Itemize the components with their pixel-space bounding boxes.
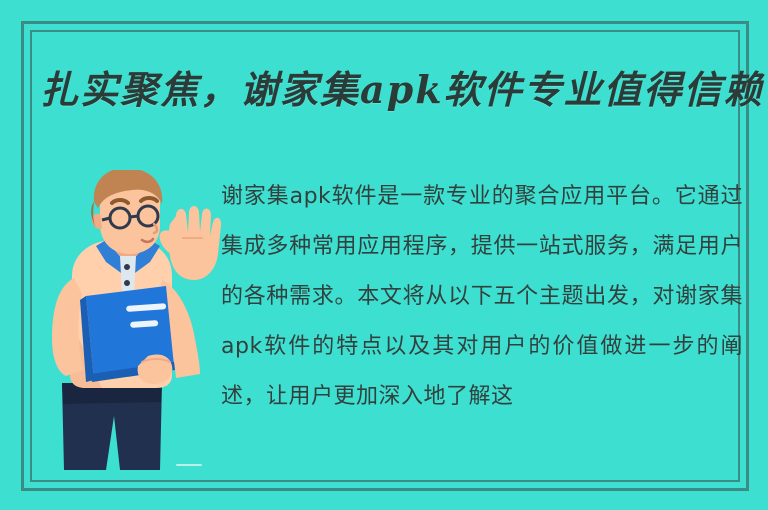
- shirt-button-top: [124, 264, 130, 270]
- body-paragraph: 谢家集apk软件是一款专业的聚合应用平台。它通过集成多种常用应用程序，提供一站式…: [221, 172, 743, 422]
- page-title: 扎实聚焦，谢家集apk软件专业值得信赖: [40, 58, 768, 122]
- ground-line: [176, 464, 202, 466]
- shirt-placket: [120, 256, 136, 294]
- poster-canvas: 扎实聚焦，谢家集apk软件专业值得信赖: [0, 0, 768, 510]
- illustration-man-waving-holding-book: [50, 170, 235, 490]
- shirt-button-bottom: [124, 280, 130, 286]
